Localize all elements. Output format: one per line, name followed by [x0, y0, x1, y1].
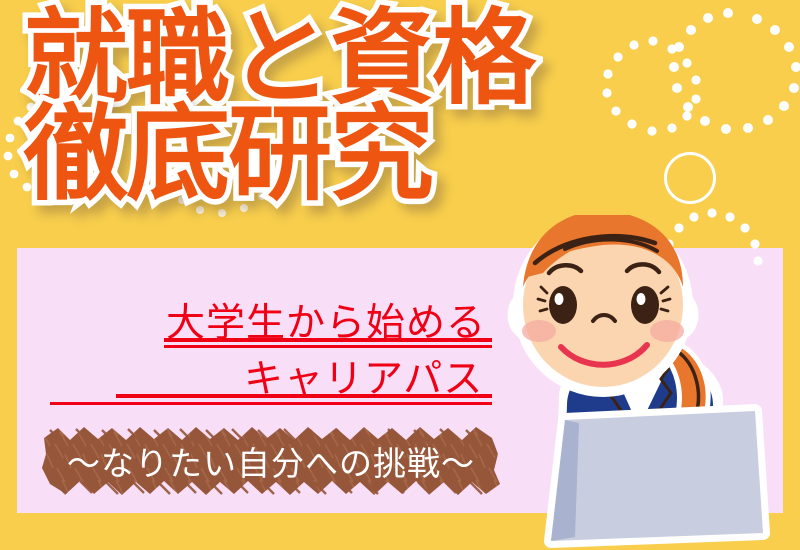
main-title: 就職と資格 徹底研究	[24, 8, 664, 206]
head	[519, 215, 687, 391]
white-ring-outline	[664, 152, 716, 204]
dotted-circle-large-top	[668, 8, 800, 143]
student-illustration	[505, 215, 800, 550]
brush-banner: 〜なりたい自分への挑戦〜	[36, 424, 506, 498]
subtitle-underline-1a	[164, 338, 492, 342]
brush-banner-text: 〜なりたい自分への挑戦〜	[36, 424, 506, 498]
subtitle-underline-2a	[116, 394, 492, 398]
subtitle-underline-2b	[50, 402, 492, 405]
laptop	[551, 411, 763, 541]
poster-root: 就職と資格 徹底研究 大学生から始める キャリアパス	[0, 0, 800, 550]
title-line-2: 徹底研究	[24, 104, 664, 206]
